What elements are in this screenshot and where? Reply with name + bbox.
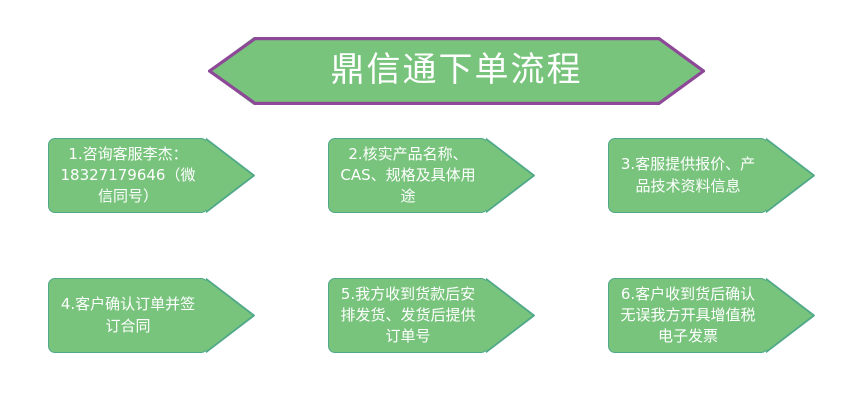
flow-step-6-arrowhead bbox=[766, 278, 814, 353]
flow-step-1-label: 1.咨询客服李杰：18327179646（微信同号） bbox=[53, 138, 203, 213]
flow-step-1-arrowhead bbox=[206, 138, 254, 213]
flow-step-6-label: 6.客户收到货后确认无误我方开具增值税电子发票 bbox=[613, 278, 763, 353]
flow-step-3-arrowhead bbox=[766, 138, 814, 213]
flow-step-2-arrowhead bbox=[486, 138, 534, 213]
flow-step-2-label: 2.核实产品名称、CAS、规格及具体用途 bbox=[333, 138, 483, 213]
page-title: 鼎信通下单流程 bbox=[208, 37, 705, 105]
flow-step-4-arrowhead bbox=[206, 278, 254, 353]
flowchart-canvas: 鼎信通下单流程 1.咨询客服李杰：18327179646（微信同号） 2.核实产… bbox=[0, 0, 865, 417]
flow-step-3-label: 3.客服提供报价、产品技术资料信息 bbox=[613, 138, 763, 213]
title-banner: 鼎信通下单流程 bbox=[208, 37, 705, 105]
flow-step-4-label: 4.客户确认订单并签订合同 bbox=[53, 278, 203, 353]
flow-step-5-arrowhead bbox=[486, 278, 534, 353]
flow-step-5-label: 5.我方收到货款后安排发货、发货后提供订单号 bbox=[333, 278, 483, 353]
